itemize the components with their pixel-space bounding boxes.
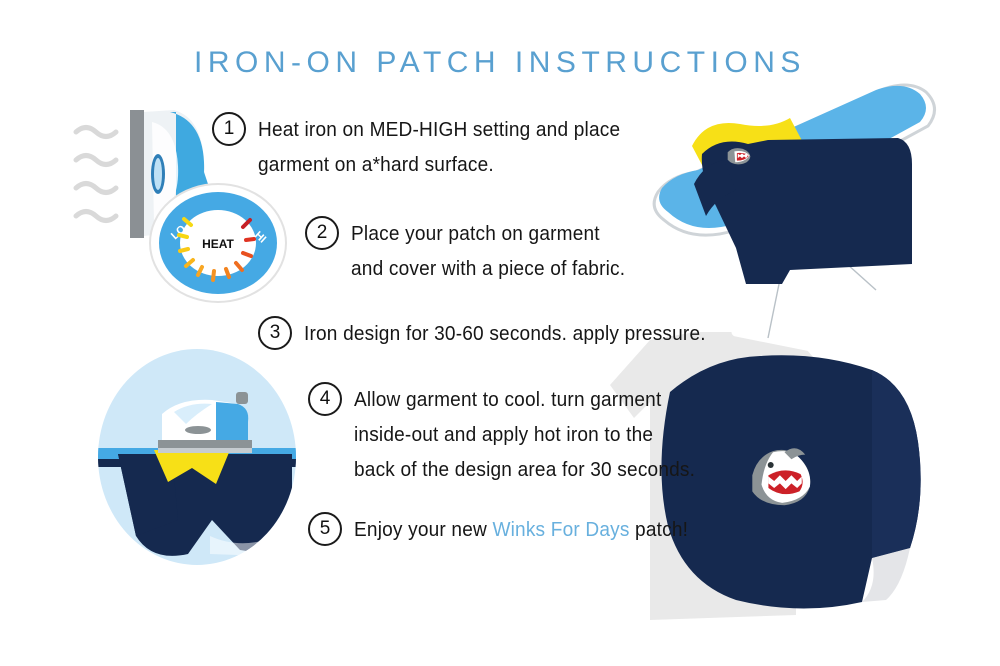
infographic-page: IRON-ON PATCH INSTRUCTIONS LO HI bbox=[0, 0, 1000, 666]
step-text-4: Allow garment to cool. turn garment insi… bbox=[354, 382, 695, 487]
step-number-2: 2 bbox=[305, 216, 339, 250]
step-1: 1 Heat iron on MED-HIGH setting and plac… bbox=[212, 112, 648, 182]
step-number-3: 3 bbox=[258, 316, 292, 350]
steam-waves-icon bbox=[76, 128, 116, 221]
step-text-5: Enjoy your new Winks For Days patch! bbox=[354, 512, 688, 547]
heat-dial-gauge: LO HI HEAT bbox=[148, 182, 288, 304]
step-3: 3 Iron design for 30-60 seconds. apply p… bbox=[258, 316, 736, 351]
step-text-3: Iron design for 30-60 seconds. apply pre… bbox=[304, 316, 706, 351]
step-5: 5 Enjoy your new Winks For Days patch! bbox=[308, 512, 713, 547]
step-number-1: 1 bbox=[212, 112, 246, 146]
step-text-2: Place your patch on garment and cover wi… bbox=[351, 216, 625, 286]
step-5-prefix: Enjoy your new bbox=[354, 518, 492, 541]
step-2: 2 Place your patch on garment and cover … bbox=[305, 216, 646, 286]
step-number-4: 4 bbox=[308, 382, 342, 416]
step-5-suffix: patch! bbox=[630, 518, 689, 541]
circle-inset-illustration bbox=[80, 340, 315, 575]
page-title: IRON-ON PATCH INSTRUCTIONS bbox=[0, 46, 1000, 80]
step-number-5: 5 bbox=[308, 512, 342, 546]
step-text-1: Heat iron on MED-HIGH setting and place … bbox=[258, 112, 620, 182]
step-4: 4 Allow garment to cool. turn garment in… bbox=[308, 382, 721, 487]
dial-center-label: HEAT bbox=[202, 237, 234, 251]
brand-name: Winks For Days bbox=[492, 518, 629, 541]
